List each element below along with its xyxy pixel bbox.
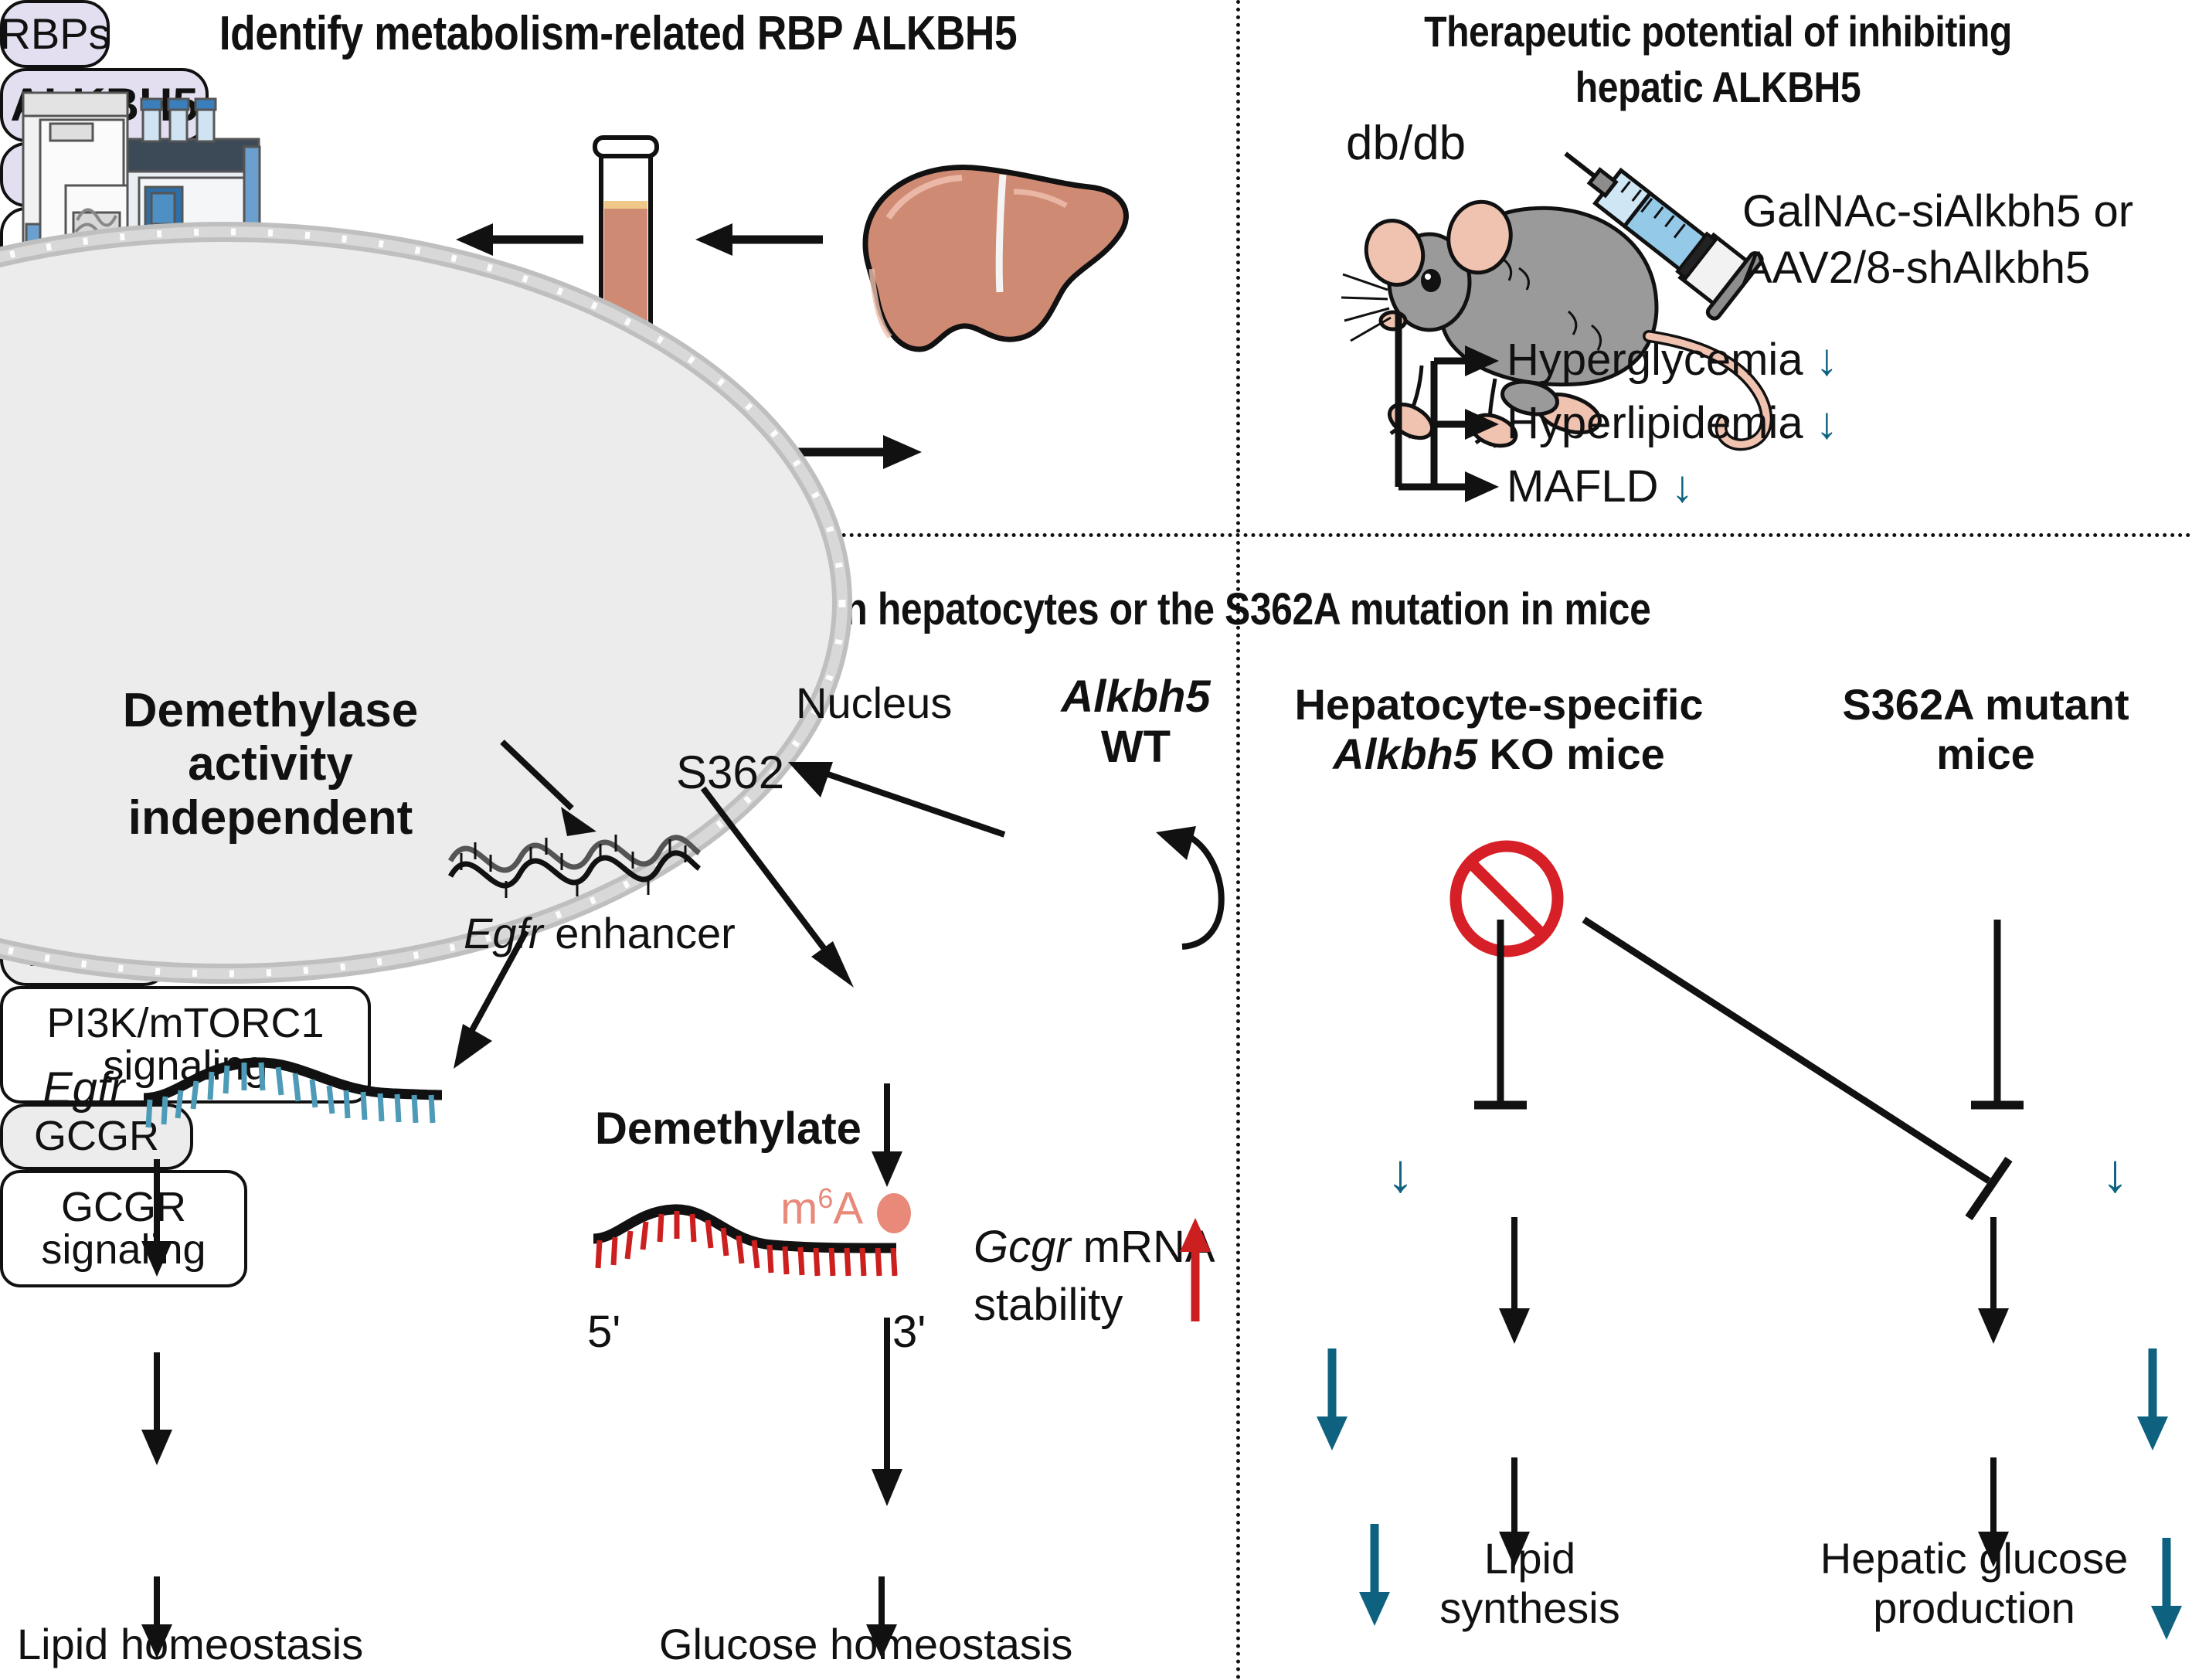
p2-outcome-hyperlipidemia-arrow-icon: ↓ <box>1816 398 1838 448</box>
p3-ko-title-rest: KO mice <box>1477 729 1665 778</box>
p3-arrow-egfr-to-pi3k <box>135 1352 182 1468</box>
panel2-title-line1: Therapeutic potential of inhibiting <box>1310 6 2126 56</box>
p2-outcome-mafld-label: MAFLD <box>1507 461 1659 512</box>
p3-ko-title-line1: Hepatocyte-specific <box>1267 680 1731 729</box>
p3-ko-lipid-line1: Lipid <box>1414 1534 1646 1583</box>
p3-ko-pi3k-arrow-icon <box>1314 1348 1352 1457</box>
p2-outcome-hyperglycemia: Hyperglycemia ↓ <box>1507 334 1838 386</box>
p1-arrow-liver-to-tube <box>695 220 827 259</box>
p2-treatment-line2: AAV2/8-shAlkbh5 <box>1742 242 2090 294</box>
p3-ko-lipid-arrow-icon <box>1356 1524 1395 1632</box>
p3-mut-arrow-gcgr-to-signaling <box>1972 1217 2018 1348</box>
p2-dbdb-label: db/db <box>1346 116 1466 171</box>
p3-mut-title-line2: mice <box>1800 729 2171 779</box>
p3-ko-lipid-label: Lipid synthesis <box>1414 1534 1646 1633</box>
p3-demethylase-line1: Demethylase <box>108 684 433 737</box>
panel2-title-line2: hepatic ALKBH5 <box>1310 62 2126 112</box>
p2-outcome-hyperlipidemia: Hyperlipidemia ↓ <box>1507 397 1838 449</box>
divider-vertical-top <box>1236 0 1240 533</box>
p2-outcome-hyperglycemia-arrow-icon: ↓ <box>1816 335 1838 385</box>
p2-outcome-hyperlipidemia-label: Hyperlipidemia <box>1507 398 1803 448</box>
p3-wt-rest: WT <box>1028 723 1244 773</box>
p2-outcome-hyperglycemia-label: Hyperglycemia <box>1507 335 1803 385</box>
panel1-title: Identify metabolism-related RBP ALKBH5 <box>87 6 1150 61</box>
p3-mut-glucose-label: Hepatic glucose production <box>1793 1534 2156 1633</box>
p1-arrow-tube-to-instrument <box>456 220 587 259</box>
gcgr-mrna-strand-icon <box>587 1194 919 1310</box>
p2-treatment-line1: GalNAc-siAlkbh5 or <box>1742 185 2133 237</box>
p3-demethylase-line2: activity <box>108 737 433 791</box>
p3-arrow-s362-to-alkbh5p <box>695 780 912 1012</box>
p3-five-prime-label: 5' <box>587 1306 620 1358</box>
p3-demethylate-label: Demethylate <box>595 1103 862 1155</box>
p3-stability-up-arrow-icon <box>1178 1215 1217 1323</box>
p3-ko-lipid-line2: synthesis <box>1414 1583 1646 1633</box>
p3-mut-gcgr-arrow-icon: ↓ <box>2102 1142 2129 1204</box>
p3-arrow-alkbh5p-down <box>865 1083 912 1192</box>
p3-mut-glucose-line2: production <box>1793 1583 2156 1633</box>
p3-demethylase-heading: Demethylase activity independent <box>108 684 433 845</box>
p3-mut-title-line1: S362A mutant <box>1800 680 2171 729</box>
p3-mut-glucose-arrow-icon <box>2148 1538 2187 1646</box>
p3-ko-egfr-arrow-icon: ↓ <box>1387 1142 1414 1204</box>
p3-arrow-enhancer-to-egfr-mrna <box>437 931 560 1086</box>
p3-wt-italic: Alkbh5 <box>1028 672 1244 723</box>
p3-arrow-camp-to-pka <box>1113 815 1252 970</box>
p3-arrow-egfrmrna-to-egfr <box>135 1159 182 1283</box>
p3-ko-title-italic: Alkbh5 <box>1333 729 1477 778</box>
p3-mut-inhibit-gcgr <box>1966 920 2028 1128</box>
p2-outcome-mafld: MAFLD ↓ <box>1507 461 1694 512</box>
p3-nucleus-label: Nucleus <box>796 678 952 728</box>
p3-arrow-alkbh5-to-enhancer <box>494 734 618 842</box>
p3-arrow-mrna-to-gcgr <box>865 1318 912 1511</box>
p3-mut-gcgr-sig-arrow-icon <box>2134 1348 2173 1457</box>
egfr-mrna-strand-icon <box>139 1047 448 1155</box>
p3-mut-glucose-line1: Hepatic glucose <box>1793 1534 2156 1583</box>
p3-wt-label: Alkbh5 WT <box>1028 672 1244 773</box>
p3-gcgr-mrna-italic: Gcgr <box>974 1222 1071 1272</box>
liver-illustration <box>834 131 1144 363</box>
p3-glucose-homeostasis-label: Glucose homeostasis <box>659 1619 1072 1669</box>
p3-lipid-homeostasis-label: Lipid homeostasis <box>17 1619 363 1669</box>
p3-ko-arrow-egfr-to-pi3k <box>1493 1217 1539 1348</box>
p3-ko-inhibit-egfr <box>1470 920 1531 1128</box>
p3-mut-gcgr-signaling-box[interactable]: GCGR signaling <box>0 1170 247 1287</box>
p3-egfr-mrna-name: Egfr <box>42 1063 124 1114</box>
p3-demethylase-line3: independent <box>108 791 433 845</box>
p3-stability-label: stability <box>974 1279 1123 1331</box>
p3-ko-title: Hepatocyte-specific Alkbh5 KO mice <box>1267 680 1731 779</box>
p3-mut-title: S362A mutant mice <box>1800 680 2171 779</box>
p2-outcome-mafld-arrow-icon: ↓ <box>1671 461 1694 512</box>
